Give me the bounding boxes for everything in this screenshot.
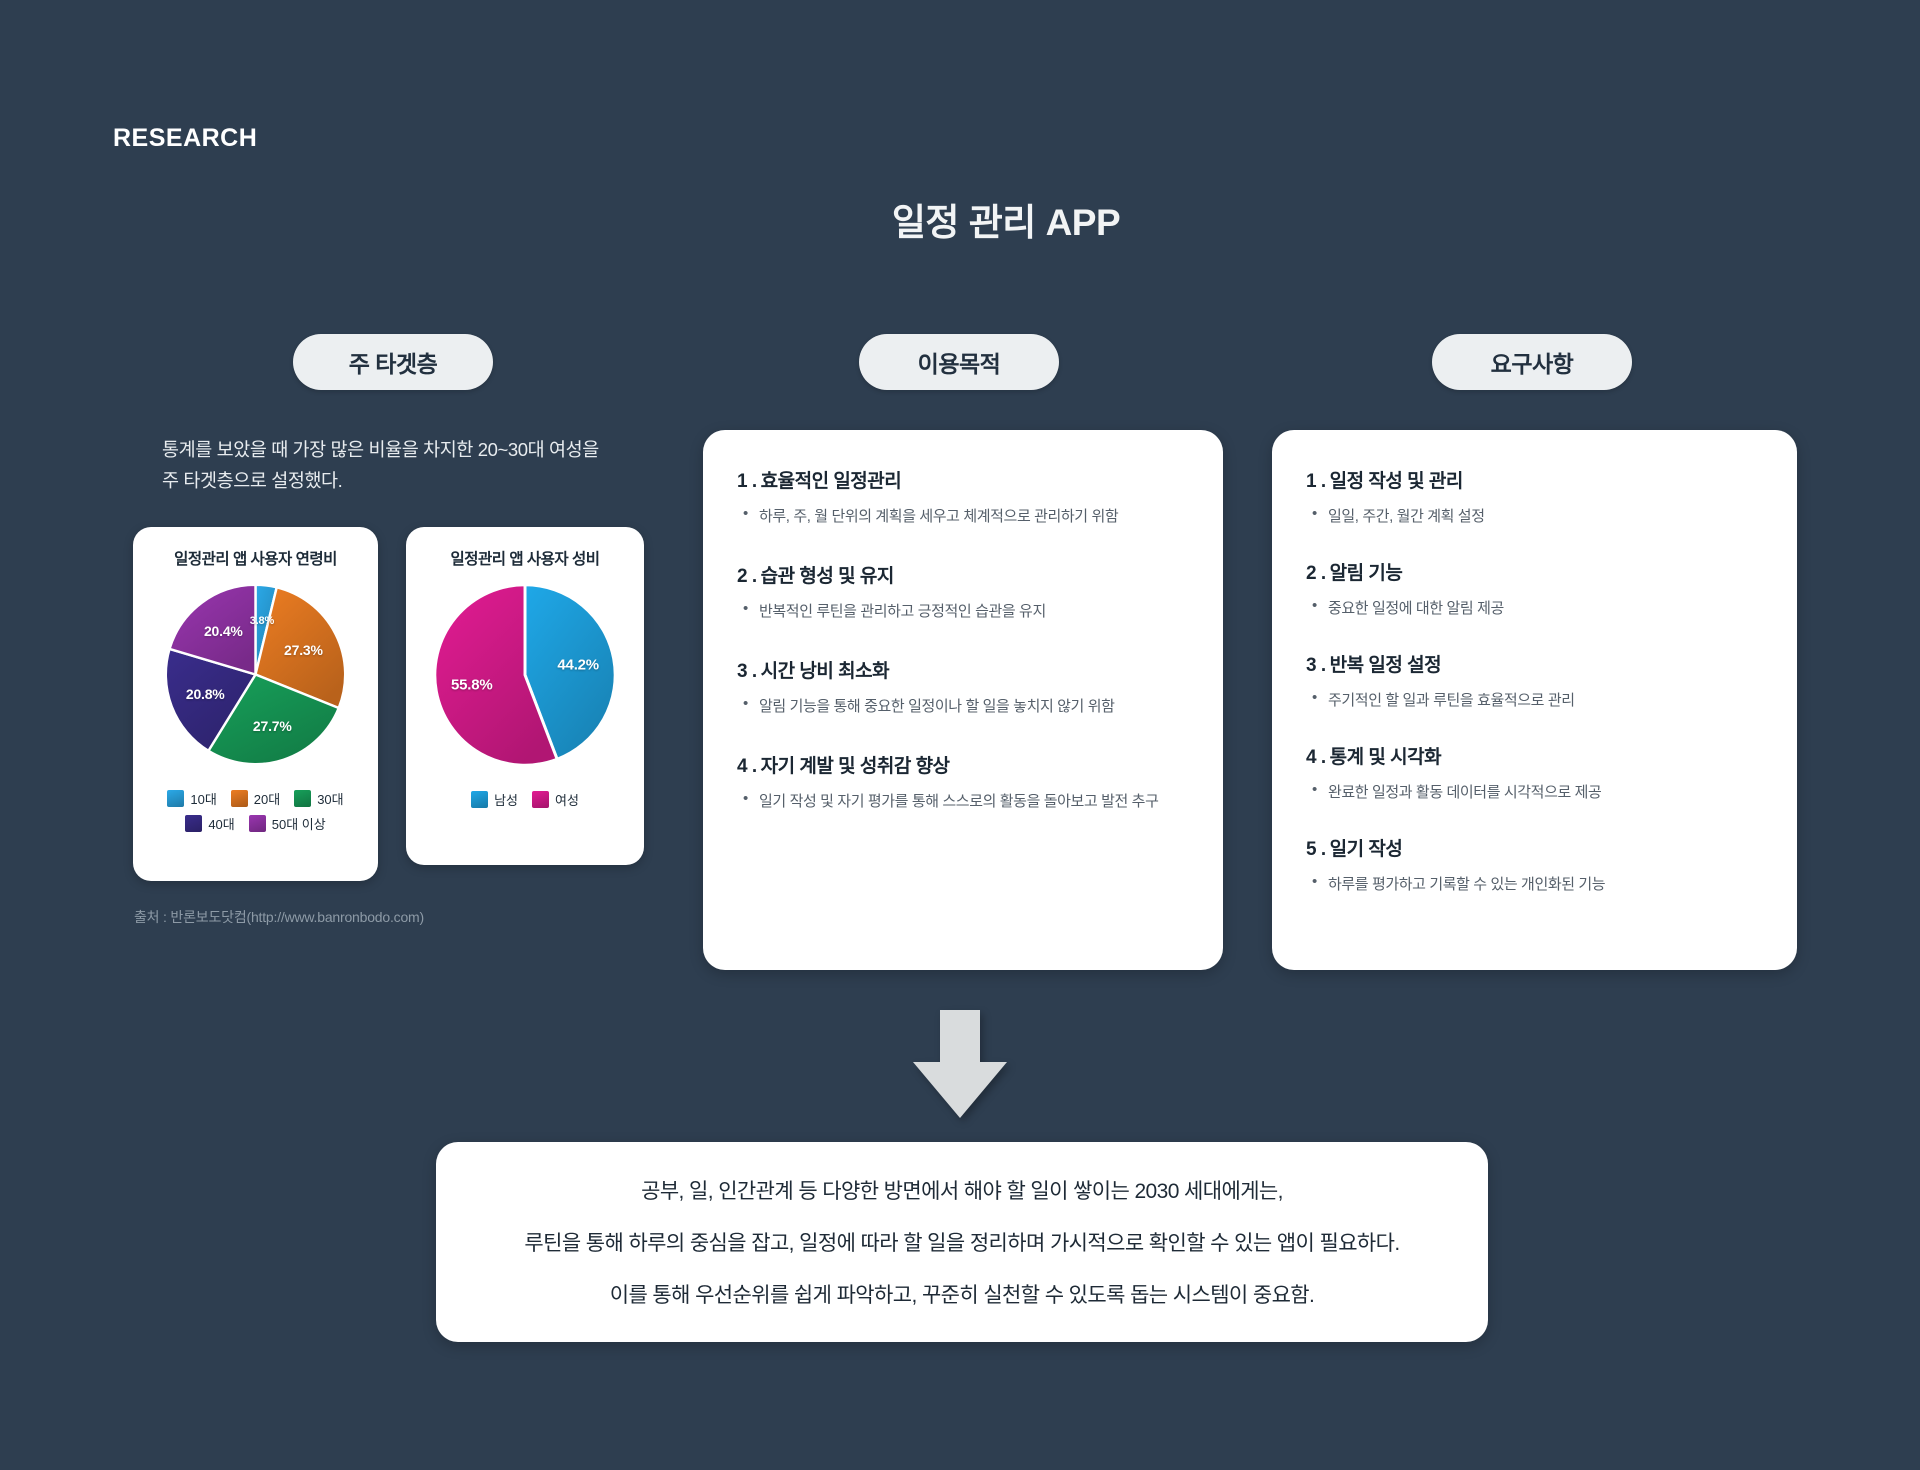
item-number: 4 . [737,756,757,777]
item-bullet-text: 하루, 주, 월 단위의 계획을 세우고 체계적으로 관리하기 위함 [759,508,1118,525]
bullet-dot-icon: • [1312,505,1317,522]
age-slice-label-20s: 27.3% [284,642,323,658]
bullet-dot-icon: • [743,695,748,712]
item-heading-text: 일정 작성 및 관리 [1330,471,1463,492]
legend-item: 20대 [231,789,280,808]
age-slice-label-50s: 20.4% [204,623,243,639]
item-number: 2 . [1306,563,1326,584]
item-heading: 2 .습관 형성 및 유지 [737,561,1189,588]
conclusion-line-2: 루틴을 통해 하루의 중심을 잡고, 일정에 따라 할 일을 정리하며 가시적으… [524,1227,1399,1257]
age-slice-label-30s: 27.7% [253,718,292,734]
legend-label: 여성 [555,790,579,809]
age-pie-chart: 3.8% 27.3% 27.7% 20.8% 20.4% [158,577,353,777]
item-bullet: •완료한 일정과 활동 데이터를 시각적으로 제공 [1306,781,1763,802]
item-bullet-text: 하루를 평가하고 기록할 수 있는 개인화된 기능 [1328,876,1605,893]
charts-row: 일정관리 앱 사용자 연령비 3.8% 27.3% 27.7% 20.8% 20… [133,527,644,881]
item-heading: 3 .시간 낭비 최소화 [737,656,1189,683]
item-heading-text: 자기 계발 및 성취감 향상 [761,756,950,777]
legend-label: 50대 이상 [272,814,326,833]
legend-item: 30대 [294,789,343,808]
item-bullet: •중요한 일정에 대한 알림 제공 [1306,597,1763,618]
age-chart-title: 일정관리 앱 사용자 연령비 [174,547,337,569]
item-bullet-text: 일일, 주간, 월간 계획 설정 [1328,508,1485,525]
conclusion-line-1: 공부, 일, 인간관계 등 다양한 방면에서 해야 할 일이 쌓이는 2030 … [641,1175,1283,1205]
age-chart-legend: 10대20대30대40대50대 이상 [147,789,364,833]
item-heading-text: 시간 낭비 최소화 [761,661,889,682]
gender-pie-svg [427,577,623,773]
section-label: RESEARCH [113,124,257,153]
down-arrow-icon [910,1010,1010,1120]
legend-swatch [249,815,266,832]
legend-item: 10대 [167,789,216,808]
item-bullet-text: 중요한 일정에 대한 알림 제공 [1328,600,1504,617]
item-number: 5 . [1306,839,1326,860]
pill-requirements: 요구사항 [1432,334,1632,390]
gender-slice-label-male: 44.2% [557,657,599,674]
target-description-line1: 통계를 보았을 때 가장 많은 비율을 차지한 20~30대 여성을 [162,434,632,465]
item-number: 1 . [737,471,757,492]
item-heading-text: 습관 형성 및 유지 [761,566,894,587]
item-bullet: •알림 기능을 통해 중요한 일정이나 할 일을 놓치지 않기 위함 [737,695,1189,716]
gender-chart-title: 일정관리 앱 사용자 성비 [450,547,599,569]
bullet-dot-icon: • [743,505,748,522]
item-heading-text: 반복 일정 설정 [1330,655,1441,676]
item-bullet: •하루, 주, 월 단위의 계획을 세우고 체계적으로 관리하기 위함 [737,505,1189,526]
item-heading: 5 .일기 작성 [1306,834,1763,861]
legend-item: 50대 이상 [249,814,326,833]
item-heading: 1 .효율적인 일정관리 [737,466,1189,493]
legend-item: 남성 [471,790,518,809]
target-description-line2: 주 타겟층으로 설정했다. [162,465,632,496]
bullet-dot-icon: • [1312,873,1317,890]
bullet-dot-icon: • [743,790,748,807]
age-slice-label-10s: 3.8% [250,615,274,627]
item-heading: 3 .반복 일정 설정 [1306,650,1763,677]
bullet-dot-icon: • [1312,597,1317,614]
source-citation: 출처 : 반론보도닷컴(http://www.banronbodo.com) [134,907,424,927]
item-bullet: •일일, 주간, 월간 계획 설정 [1306,505,1763,526]
gender-chart-card: 일정관리 앱 사용자 성비 44.2% 55.8% 남성여성 [406,527,644,865]
age-slice-label-40s: 20.8% [186,686,225,702]
legend-label: 20대 [254,789,280,808]
age-chart-card: 일정관리 앱 사용자 연령비 3.8% 27.3% 27.7% 20.8% 20… [133,527,378,881]
item-heading-text: 일기 작성 [1330,839,1403,860]
legend-label: 남성 [494,790,518,809]
pill-usage-purpose: 이용목적 [859,334,1059,390]
conclusion-line-3: 이를 통해 우선순위를 쉽게 파악하고, 꾸준히 실천할 수 있도록 돕는 시스… [610,1279,1315,1309]
item-heading: 1 .일정 작성 및 관리 [1306,466,1763,493]
usage-purpose-card: 1 .효율적인 일정관리•하루, 주, 월 단위의 계획을 세우고 체계적으로 … [703,430,1223,970]
item-heading-text: 통계 및 시각화 [1330,747,1441,768]
requirements-card: 1 .일정 작성 및 관리•일일, 주간, 월간 계획 설정2 .알림 기능•중… [1272,430,1797,970]
gender-slice-label-female: 55.8% [451,676,493,693]
target-description: 통계를 보았을 때 가장 많은 비율을 차지한 20~30대 여성을 주 타겟층… [162,434,632,496]
item-heading-text: 알림 기능 [1330,563,1403,584]
item-number: 1 . [1306,471,1326,492]
item-heading: 2 .알림 기능 [1306,558,1763,585]
legend-label: 40대 [208,814,234,833]
item-bullet-text: 주기적인 할 일과 루틴을 효율적으로 관리 [1328,692,1575,709]
legend-item: 여성 [532,790,579,809]
page-title-text: 일정 관리 APP [892,192,1120,246]
item-number: 2 . [737,566,757,587]
legend-label: 10대 [190,789,216,808]
item-bullet: •주기적인 할 일과 루틴을 효율적으로 관리 [1306,689,1763,710]
item-number: 4 . [1306,747,1326,768]
item-heading-text: 효율적인 일정관리 [761,471,902,492]
pill-target-audience: 주 타겟층 [293,334,493,390]
item-bullet-text: 일기 작성 및 자기 평가를 통해 스스로의 활동을 돌아보고 발전 추구 [759,793,1158,810]
bullet-dot-icon: • [1312,689,1317,706]
gender-pie-chart: 44.2% 55.8% [427,577,623,778]
research-slide: RESEARCH 일정 관리 APP 주 타겟층 이용목적 요구사항 통계를 보… [0,0,1920,1470]
legend-swatch [167,790,184,807]
bullet-dot-icon: • [1312,781,1317,798]
age-pie-svg [158,577,353,772]
page-title: 일정 관리 APP [0,192,1920,246]
legend-swatch [231,790,248,807]
item-bullet: •일기 작성 및 자기 평가를 통해 스스로의 활동을 돌아보고 발전 추구 [737,790,1189,811]
item-bullet-text: 알림 기능을 통해 중요한 일정이나 할 일을 놓치지 않기 위함 [759,698,1115,715]
bullet-dot-icon: • [743,600,748,617]
item-heading: 4 .통계 및 시각화 [1306,742,1763,769]
item-bullet: •하루를 평가하고 기록할 수 있는 개인화된 기능 [1306,873,1763,894]
legend-swatch [294,790,311,807]
item-number: 3 . [737,661,757,682]
legend-swatch [185,815,202,832]
item-bullet-text: 완료한 일정과 활동 데이터를 시각적으로 제공 [1328,784,1601,801]
conclusion-card: 공부, 일, 인간관계 등 다양한 방면에서 해야 할 일이 쌓이는 2030 … [436,1142,1488,1342]
item-heading: 4 .자기 계발 및 성취감 향상 [737,751,1189,778]
legend-swatch [471,791,488,808]
item-number: 3 . [1306,655,1326,676]
item-bullet-text: 반복적인 루틴을 관리하고 긍정적인 습관을 유지 [759,603,1046,620]
legend-label: 30대 [317,789,343,808]
item-bullet: •반복적인 루틴을 관리하고 긍정적인 습관을 유지 [737,600,1189,621]
legend-swatch [532,791,549,808]
gender-chart-legend: 남성여성 [420,790,630,809]
legend-item: 40대 [185,814,234,833]
